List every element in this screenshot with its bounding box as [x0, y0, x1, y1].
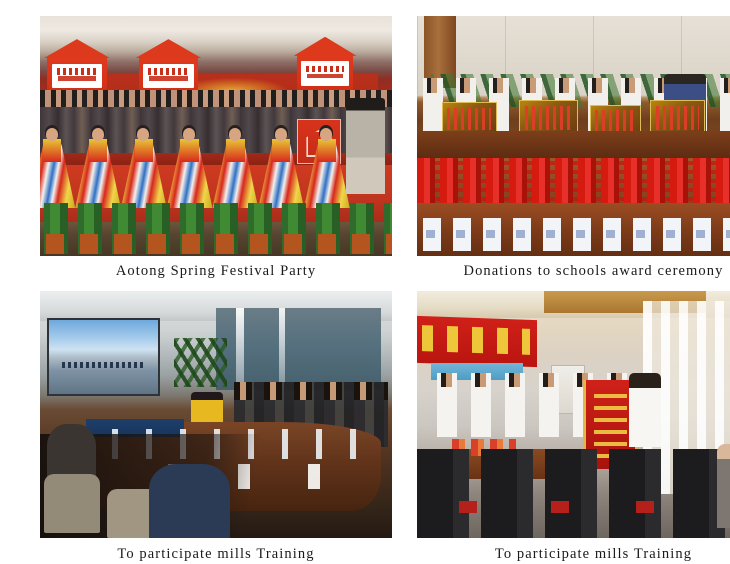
- dancer-head: [46, 128, 58, 141]
- office-chair: [44, 474, 100, 533]
- sign-placard-center: [143, 64, 193, 89]
- attendees-heads: [234, 382, 389, 399]
- dancer-head: [183, 128, 195, 141]
- staff-back-row-heads: [40, 90, 392, 107]
- caption-bottom-right: To participate mills Training: [417, 538, 730, 564]
- photo-spring-festival-party: [40, 16, 392, 256]
- chair-backs-foreground: [417, 449, 730, 538]
- dancer: [75, 126, 121, 208]
- dancer-row: [40, 126, 392, 208]
- dancer-bodice: [318, 139, 336, 162]
- dancer: [167, 126, 213, 208]
- figure-top-left: Aotong Spring Festival Party: [40, 16, 392, 281]
- caption-top-left: Aotong Spring Festival Party: [40, 256, 392, 281]
- caption-bottom-left: To participate mills Training: [40, 538, 392, 564]
- dancer: [40, 126, 75, 208]
- dancer-bodice: [43, 139, 61, 162]
- dancer: [212, 126, 258, 208]
- figure-top-right: Donations to schools award ceremony: [417, 16, 730, 281]
- dancer: [121, 126, 167, 208]
- dancer-head: [275, 128, 287, 141]
- red-wall-banner: [417, 316, 537, 367]
- figure-bottom-right: To participate mills Training: [417, 291, 730, 564]
- dancer-bodice: [272, 139, 290, 162]
- recipient-standing: [629, 373, 661, 447]
- dancer-bodice: [180, 139, 198, 162]
- photo-collage-page: Aotong Spring Festival Party Donations t…: [0, 0, 730, 562]
- held-sign-right: [297, 54, 353, 92]
- photo-farewell-ceremony: [417, 291, 730, 538]
- sign-placard-left: [52, 64, 102, 89]
- clapping-person-foreground: [717, 444, 730, 528]
- dancer-head: [229, 128, 241, 141]
- dancer: [304, 126, 350, 208]
- dancer-head: [92, 128, 104, 141]
- dancer-bodice: [89, 139, 107, 162]
- banner-characters: [422, 326, 530, 356]
- dancer-bodice: [226, 139, 244, 162]
- chair-red-accent: [636, 501, 654, 513]
- projection-screen: [47, 318, 160, 396]
- head-table: [417, 131, 730, 157]
- foreground-attendee: [47, 424, 96, 478]
- dancer-head: [320, 128, 332, 141]
- chair-red-accent: [551, 501, 569, 513]
- caption-top-right: Donations to schools award ceremony: [417, 256, 730, 281]
- chair-red-accent: [459, 501, 477, 513]
- host-speaker: [346, 98, 385, 194]
- terracotta-pot-row: [40, 234, 392, 253]
- foreground-attendee-back: [149, 464, 230, 538]
- dancer: [258, 126, 304, 208]
- dancer-head: [137, 128, 149, 141]
- photo-donation-award-ceremony: [417, 16, 730, 256]
- porcelain-flower-pot-row: [417, 218, 730, 252]
- photo-mills-training-meeting-room: [40, 291, 392, 538]
- figure-bottom-left: To participate mills Training: [40, 291, 392, 564]
- window-with-blinds: [216, 308, 381, 390]
- indoor-plant: [174, 338, 227, 387]
- sign-placard-right: [301, 61, 348, 86]
- dancer-bodice: [135, 139, 153, 162]
